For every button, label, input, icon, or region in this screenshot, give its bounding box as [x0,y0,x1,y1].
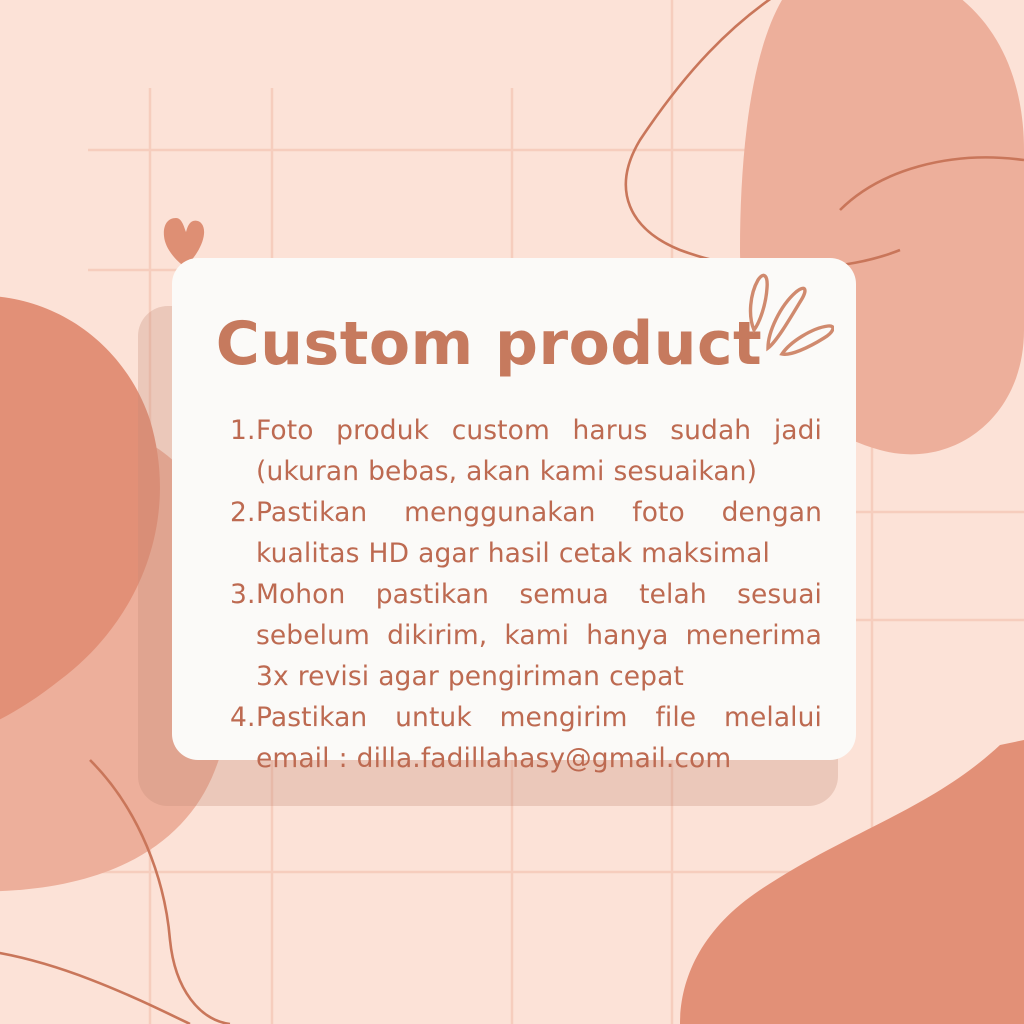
sparkle-icon [738,272,834,358]
list-item: 1. Foto produk custom harus sudah jadi (… [230,410,822,492]
list-item-number: 2. [230,492,256,533]
list-item-text: Mohon pastikan semua telah sesuai sebelu… [256,574,822,697]
list-item: 3. Mohon pastikan semua telah sesuai seb… [230,574,822,697]
swirl-bottom-left-2 [0,950,190,1024]
blob-top-left-accent [0,296,160,740]
list-item-number: 4. [230,697,256,738]
list-item: 4. Pastikan untuk mengirim file melalui … [230,697,822,779]
swirl-top-right [626,0,900,269]
swirl-top-right-outer [840,157,1024,210]
list-item-number: 3. [230,574,256,615]
list-item-text: Pastikan menggunakan foto dengan kualita… [256,492,822,574]
list-item-text: Pastikan untuk mengirim file melalui ema… [256,697,822,779]
instructions-list: 1. Foto produk custom harus sudah jadi (… [230,410,822,779]
poster-canvas: Custom product 1. Foto produk custom har… [0,0,1024,1024]
list-item-number: 1. [230,410,256,451]
list-item: 2. Pastikan menggunakan foto dengan kual… [230,492,822,574]
list-item-text: Foto produk custom harus sudah jadi (uku… [256,410,822,492]
